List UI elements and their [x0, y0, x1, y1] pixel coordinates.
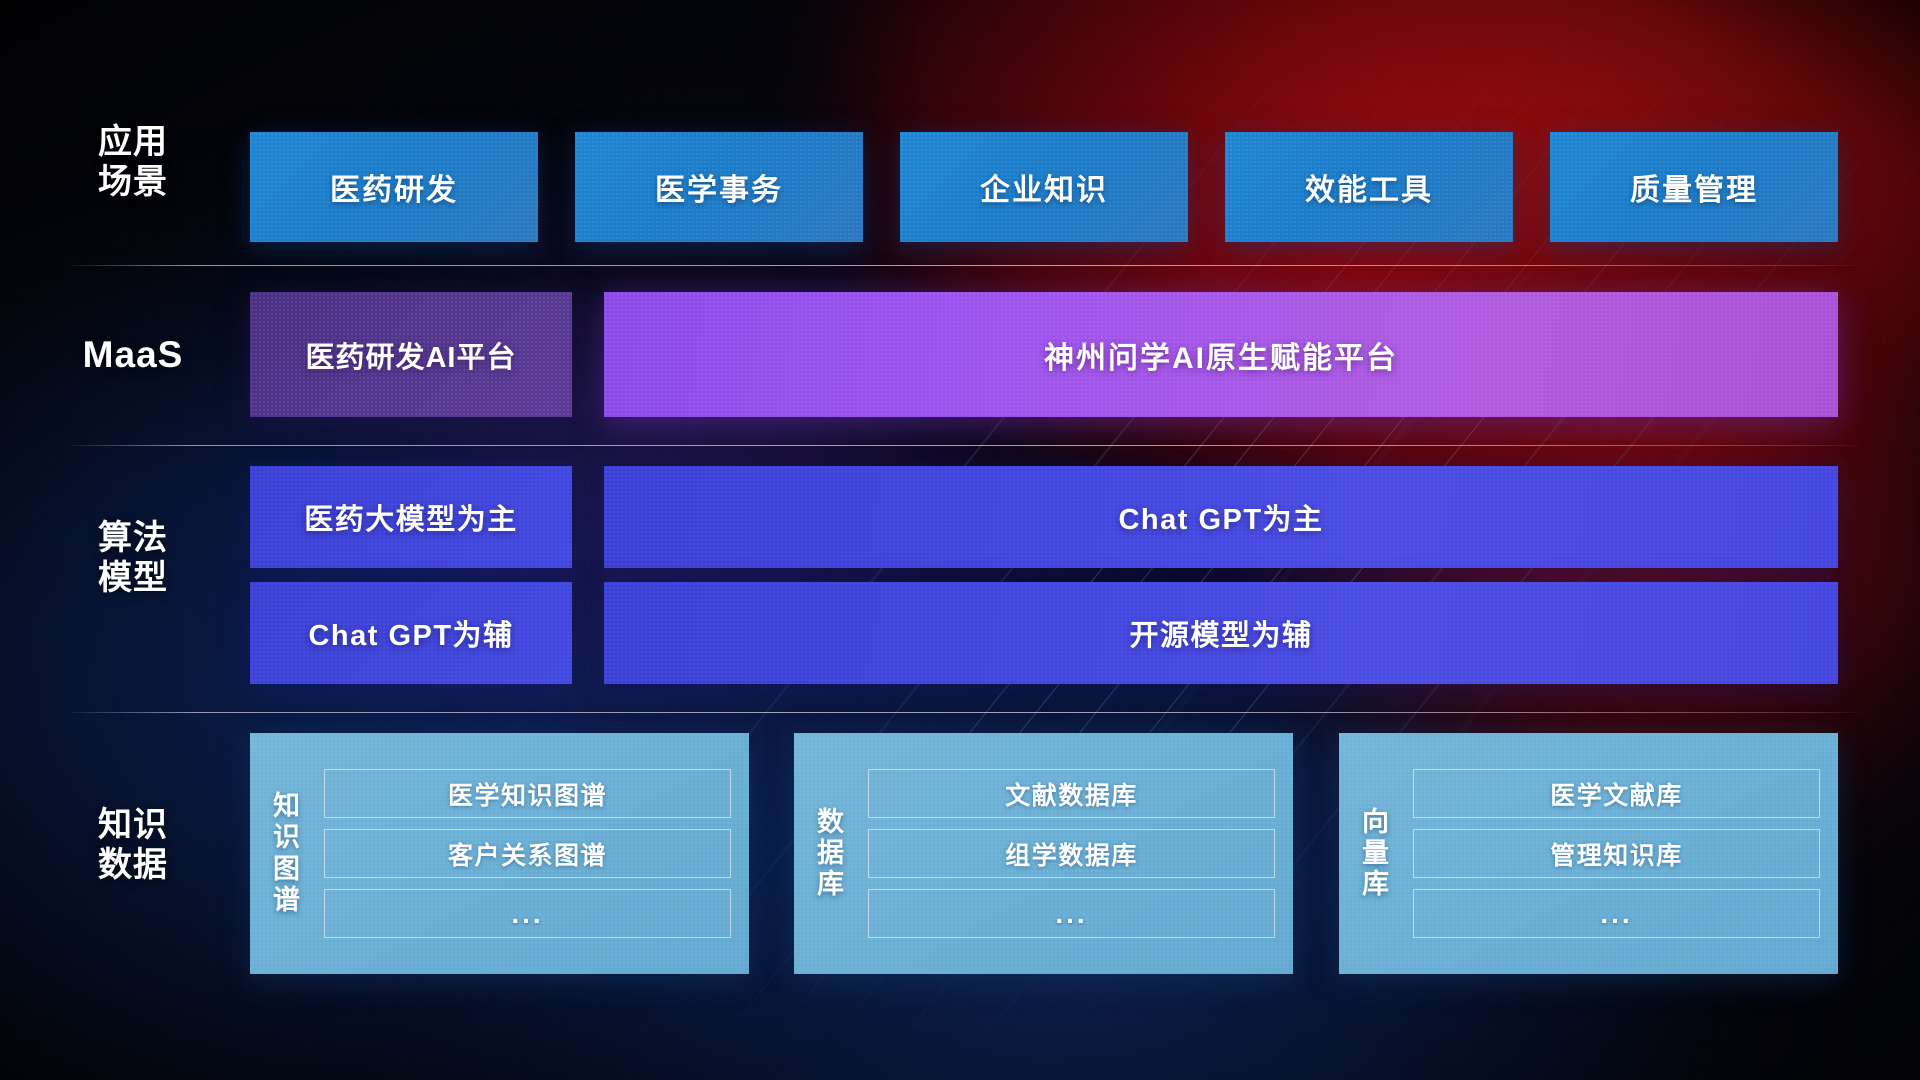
maas-box-drug-rd-ai-platform[interactable]: 医药研发AI平台	[250, 292, 572, 417]
knowledge-panel-vector-store[interactable]: 向 量 库 医学文献库 管理知识库 ...	[1339, 733, 1838, 974]
app-box-drug-rd[interactable]: 医药研发	[250, 132, 538, 242]
tier-label-line: 模型	[72, 558, 194, 598]
algo-box-label: Chat GPT为辅	[308, 612, 513, 654]
knowledge-panel-items: 医学文献库 管理知识库 ...	[1413, 733, 1838, 974]
algo-box-label: 医药大模型为主	[304, 496, 518, 538]
app-box-medical-affairs[interactable]: 医学事务	[575, 132, 863, 242]
algo-box-pharma-llm-primary[interactable]: 医药大模型为主	[250, 466, 572, 568]
app-box-label: 医药研发	[330, 165, 458, 209]
app-box-label: 医学事务	[655, 165, 783, 209]
knowledge-panel-label: 向 量 库	[1339, 733, 1413, 974]
knowledge-item[interactable]: 组学数据库	[868, 829, 1275, 878]
tier-separator-1	[70, 265, 1865, 266]
knowledge-item[interactable]: 医学文献库	[1413, 769, 1820, 818]
app-box-quality-management[interactable]: 质量管理	[1550, 132, 1838, 242]
label-char: 据	[817, 838, 845, 869]
stack-diagram: 应用 场景 医药研发 医学事务 企业知识 效能工具 质量管理 MaaS 医药研发…	[0, 0, 1920, 1080]
tier-separator-3	[70, 712, 1865, 713]
knowledge-panel-label: 数 据 库	[794, 733, 868, 974]
algo-box-label: Chat GPT为主	[1118, 496, 1323, 538]
label-char: 向	[1362, 807, 1390, 838]
app-box-label: 效能工具	[1305, 165, 1433, 209]
tier-label-application-scenarios: 应用 场景	[72, 122, 194, 202]
knowledge-panel-items: 文献数据库 组学数据库 ...	[868, 733, 1293, 974]
label-char: 库	[1362, 869, 1390, 900]
tier-label-line: 数据	[72, 845, 194, 885]
app-box-label: 企业知识	[980, 165, 1108, 209]
tier-label-algorithm-models: 算法 模型	[72, 518, 194, 598]
knowledge-panel-items: 医学知识图谱 客户关系图谱 ...	[324, 733, 749, 974]
knowledge-item-more[interactable]: ...	[324, 889, 731, 938]
knowledge-panel-knowledge-graph[interactable]: 知 识 图 谱 医学知识图谱 客户关系图谱 ...	[250, 733, 749, 974]
label-char: 谱	[273, 885, 301, 916]
knowledge-panel-database[interactable]: 数 据 库 文献数据库 组学数据库 ...	[794, 733, 1293, 974]
knowledge-panel-label: 知 识 图 谱	[250, 733, 324, 974]
app-box-enterprise-knowledge[interactable]: 企业知识	[900, 132, 1188, 242]
maas-box-label: 医药研发AI平台	[305, 334, 516, 376]
label-char: 量	[1362, 838, 1390, 869]
label-char: 识	[273, 822, 301, 853]
tier-label-line: 知识	[72, 805, 194, 845]
tier-label-line: 算法	[72, 518, 194, 558]
tier-label-line: 场景	[72, 162, 194, 202]
app-box-efficiency-tools[interactable]: 效能工具	[1225, 132, 1513, 242]
algo-box-label: 开源模型为辅	[1129, 612, 1312, 654]
algo-box-opensource-secondary[interactable]: 开源模型为辅	[604, 582, 1838, 684]
knowledge-item[interactable]: 客户关系图谱	[324, 829, 731, 878]
label-char: 数	[817, 807, 845, 838]
tier-label-line: MaaS	[72, 333, 194, 377]
knowledge-item[interactable]: 文献数据库	[868, 769, 1275, 818]
label-char: 库	[817, 869, 845, 900]
knowledge-item-more[interactable]: ...	[1413, 889, 1820, 938]
tier-label-knowledge-data: 知识 数据	[72, 805, 194, 885]
maas-box-shenzhou-wenxue-platform[interactable]: 神州问学AI原生赋能平台	[604, 292, 1838, 417]
label-char: 知	[273, 791, 301, 822]
app-box-label: 质量管理	[1630, 165, 1758, 209]
maas-box-label: 神州问学AI原生赋能平台	[1044, 333, 1398, 377]
algo-box-chatgpt-secondary[interactable]: Chat GPT为辅	[250, 582, 572, 684]
label-char: 图	[273, 854, 301, 885]
knowledge-item[interactable]: 医学知识图谱	[324, 769, 731, 818]
tier-label-line: 应用	[72, 122, 194, 162]
algo-box-chatgpt-primary[interactable]: Chat GPT为主	[604, 466, 1838, 568]
tier-label-maas: MaaS	[72, 333, 194, 377]
knowledge-item-more[interactable]: ...	[868, 889, 1275, 938]
knowledge-item[interactable]: 管理知识库	[1413, 829, 1820, 878]
tier-separator-2	[70, 445, 1865, 446]
